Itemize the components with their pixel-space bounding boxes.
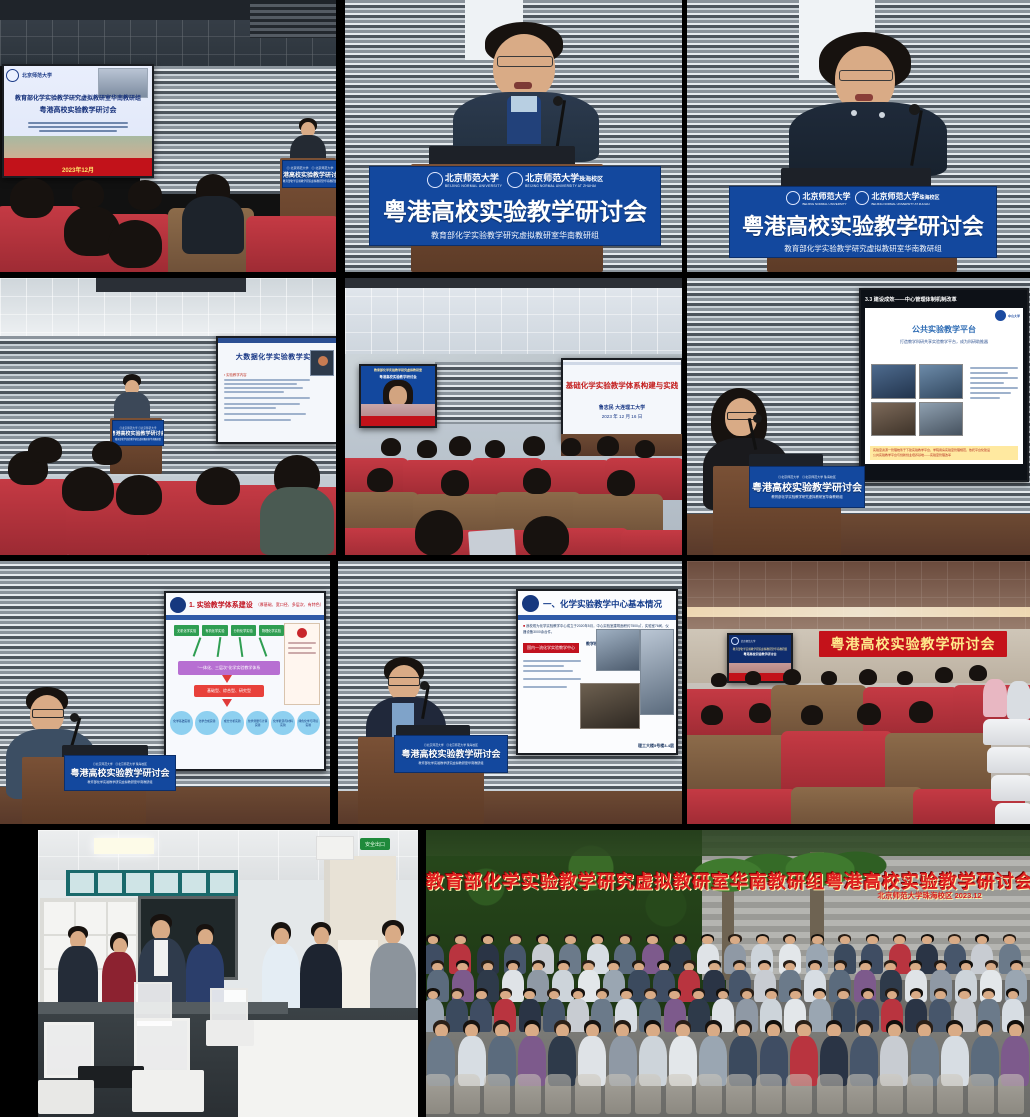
podium-logo-right-campus: 珠海校区 — [919, 195, 939, 201]
photo-female-speaker[interactable]: 北京师范大学 BEIJING NORMAL UNIVERSITY 北京师范大学珠… — [687, 0, 1030, 272]
photo-lecture-audience[interactable]: 大数据化学实验教学实践 ▪ 实验教学内容 — [0, 278, 336, 555]
projection-screen: 1. 实验教学体系建设 （厚基础、宽口径、多层次、有特色） 无机化学实验 有机化… — [164, 591, 326, 771]
chair — [484, 1074, 510, 1114]
podium-banner: ◎北京师范大学 ◎北京师范大学 珠海校区 粤港高校实验教学研讨会 教育部化学实验… — [64, 755, 176, 791]
slide-title: 一、化学实验教学中心基本情况 — [543, 598, 662, 610]
chair — [907, 1074, 933, 1114]
slide-presenter: 鲁志民 大连理工大学 — [563, 404, 681, 411]
podium-banner-title: 粤港高校实验教学研讨会 — [752, 479, 862, 494]
chair — [635, 1074, 661, 1114]
podium-logo-left-cn: 北京师范大学 — [445, 171, 502, 184]
slide-title: 1. 实验教学体系建设 — [189, 600, 253, 610]
podium-banner-title: 粤港高校实验教学研讨会 — [742, 209, 984, 241]
screen-title-line1: 教育部化学实验教学研究虚拟教研室华南教研组 — [4, 94, 152, 104]
lab-staff-figure — [262, 922, 300, 1014]
podium-logo-left-en: BEIJING NORMAL UNIVERSITY — [445, 184, 502, 188]
photo-platform-presentation[interactable]: 3.3 建设成效——中心管理体制机制改革 中山大学 公共实验教学平台 打造教学科… — [687, 278, 1030, 555]
slide-subtitle: 打造教学科研共享实验教学平台，成为科研助推器 — [865, 339, 1023, 345]
slide-title: 基础化学实验教学体系构建与实践 — [563, 380, 681, 391]
podium-logo-right-en: BEIJING NORMAL UNIVERSITY AT ZHUHAI — [871, 202, 939, 206]
screen-title-line2: 粤港高校实验教学研讨会 — [4, 106, 152, 116]
podium-banner-title: 粤港高校实验教学研讨会 — [70, 766, 169, 779]
chair — [454, 1074, 480, 1114]
slide-title-extra: （厚基础、宽口径、多层次、有特色） — [256, 602, 324, 608]
chair — [786, 1074, 812, 1114]
podium-banner: 北京师范大学 BEIJING NORMAL UNIVERSITY 北京师范大学珠… — [729, 186, 997, 258]
visitor-figure — [300, 922, 342, 1018]
chair — [426, 1074, 450, 1114]
speaker-figure — [795, 32, 943, 174]
podium-banner-title: 粤港高校实验教学研讨会 — [383, 192, 647, 227]
chair — [998, 1074, 1024, 1114]
chair — [937, 1074, 963, 1114]
chair — [726, 1074, 752, 1114]
group-people — [426, 934, 1030, 1117]
podium-banner-subtitle: 教育部化学实验教学研究虚拟教研室华南教研组 — [784, 243, 942, 254]
screen-logo-cn: 北京师范大学 — [22, 72, 52, 79]
chair — [817, 1074, 843, 1114]
podium-logo-left-en: BEIJING NORMAL UNIVERSITY — [802, 202, 850, 206]
chair — [968, 1074, 994, 1114]
podium-logo-right-cn: 北京师范大学 — [871, 192, 919, 201]
podium-banner-title: 粤港高校实验教学研讨会 — [401, 747, 500, 760]
group-photo-banner-subtitle: 北京师范大学珠海校区 2023.12 — [877, 890, 981, 901]
led-wall-remote: 教育部化学实验教学研究虚拟教研室 粤港高校实验教学研讨会 — [359, 364, 437, 428]
chair — [877, 1074, 903, 1114]
chair — [696, 1074, 722, 1114]
chair — [756, 1074, 782, 1114]
chair — [666, 1074, 692, 1114]
chair — [545, 1074, 571, 1114]
projection-screen: 一、化学实验教学中心基本情况 ■ 我校现为化学实验教学中心成立于2020年5月，… — [516, 589, 678, 755]
photo-male-speaker[interactable]: 北京师范大学 BEIJING NORMAL UNIVERSITY 北京师范大学珠… — [345, 0, 682, 272]
photo-opening-ceremony[interactable]: 北京师范大学 教育部化学实验教学研究虚拟教研室华南教研组 粤港高校实验教学研讨会… — [0, 0, 336, 272]
slide-note-2: 理工大楼5号楼3-4层 — [638, 743, 674, 749]
slide-tag: 国内一流化学实验教学中心 — [523, 643, 579, 653]
photo-hall-panorama[interactable]: 北京师范大学 教育部化学实验教学研究虚拟教研室华南教研组 粤港高校实验教学研讨会… — [687, 561, 1030, 824]
projection-screen: 大数据化学实验教学实践 ▪ 实验教学内容 — [216, 336, 336, 444]
podium-banner-subtitle: 教育部化学实验教学研究虚拟教研室华南教研组 — [771, 494, 842, 499]
visitor-figure — [370, 920, 416, 1020]
photo-lab-visit[interactable]: 安全出口 — [38, 830, 418, 1117]
photo-hybrid-session[interactable]: 教育部化学实验教学研究虚拟教研室 粤港高校实验教学研讨会 基础化学实验教学体系构… — [345, 278, 682, 555]
podium-banner: 北京师范大学 BEIJING NORMAL UNIVERSITY 北京师范大学珠… — [369, 166, 661, 246]
podium-banner: ◎北京师范大学 ◎北京师范大学 珠海校区 粤港高校实验教学研讨会 教育部化学实验… — [394, 735, 508, 773]
projection-screen: 3.3 建设成效——中心管理体制机制改革 中山大学 公共实验教学平台 打造教学科… — [859, 288, 1029, 482]
visitor-figure — [102, 932, 136, 1012]
chair — [515, 1074, 541, 1114]
podium-logo-left-cn: 北京师范大学 — [802, 191, 850, 202]
speaker-figure — [455, 22, 595, 158]
chair — [847, 1074, 873, 1114]
slide-date: 2023 年 12 月 16 日 — [563, 414, 681, 420]
podium-logo-right-cn: 北京师范大学 — [525, 173, 579, 183]
podium-banner-subtitle: 教育部化学实验教学研究虚拟教研室华南教研组 — [88, 779, 153, 784]
hall-banner: 粤港高校实验教学研讨会 — [819, 631, 1007, 657]
exit-sign: 安全出口 — [360, 838, 390, 850]
projection-screen: 北京师范大学 教育部化学实验教学研究虚拟教研室华南教研组 粤港高校实验教学研讨会… — [2, 64, 154, 178]
podium-logo-right-en: BEIJING NORMAL UNIVERSITY AT ZHUHAI — [525, 184, 603, 188]
podium-banner-subtitle: 教育部化学实验教学研究虚拟教研室华南教研组 — [419, 760, 484, 765]
photo-curriculum-system[interactable]: 1. 实验教学体系建设 （厚基础、宽口径、多层次、有特色） 无机化学实验 有机化… — [0, 561, 330, 824]
podium-banner-subtitle: 教育部化学实验教学研究虚拟教研室华南教研组 — [431, 230, 599, 241]
photo-center-overview[interactable]: 一、化学实验教学中心基本情况 ■ 我校现为化学实验教学中心成立于2020年5月，… — [338, 561, 682, 824]
podium-logo-right-campus: 珠海校区 — [579, 177, 603, 183]
chair — [605, 1074, 631, 1114]
slide-mid-box-2: 基础型、综合型、研究型 — [194, 685, 264, 697]
slide-mid-box: “一体化、三层次”化学实验教学体系 — [178, 661, 280, 675]
photo-group-portrait[interactable]: 教育部化学实验教学研究虚拟教研室华南教研组粤港高校实验教学研讨会 北京师范大学珠… — [426, 830, 1030, 1117]
chair — [575, 1074, 601, 1114]
slide-section: 3.3 建设成效——中心管理体制机制改革 — [865, 296, 1023, 303]
visitor-figure — [58, 926, 98, 1012]
slide-title: 公共实验教学平台 — [865, 324, 1023, 335]
podium-banner: ◎北京师范大学 ◎北京师范大学 珠海校区 粤港高校实验教学研讨会 教育部化学实验… — [749, 466, 865, 508]
photo-collage: 北京师范大学 教育部化学实验教学研究虚拟教研室华南教研组 粤港高校实验教学研讨会… — [0, 0, 1030, 1117]
